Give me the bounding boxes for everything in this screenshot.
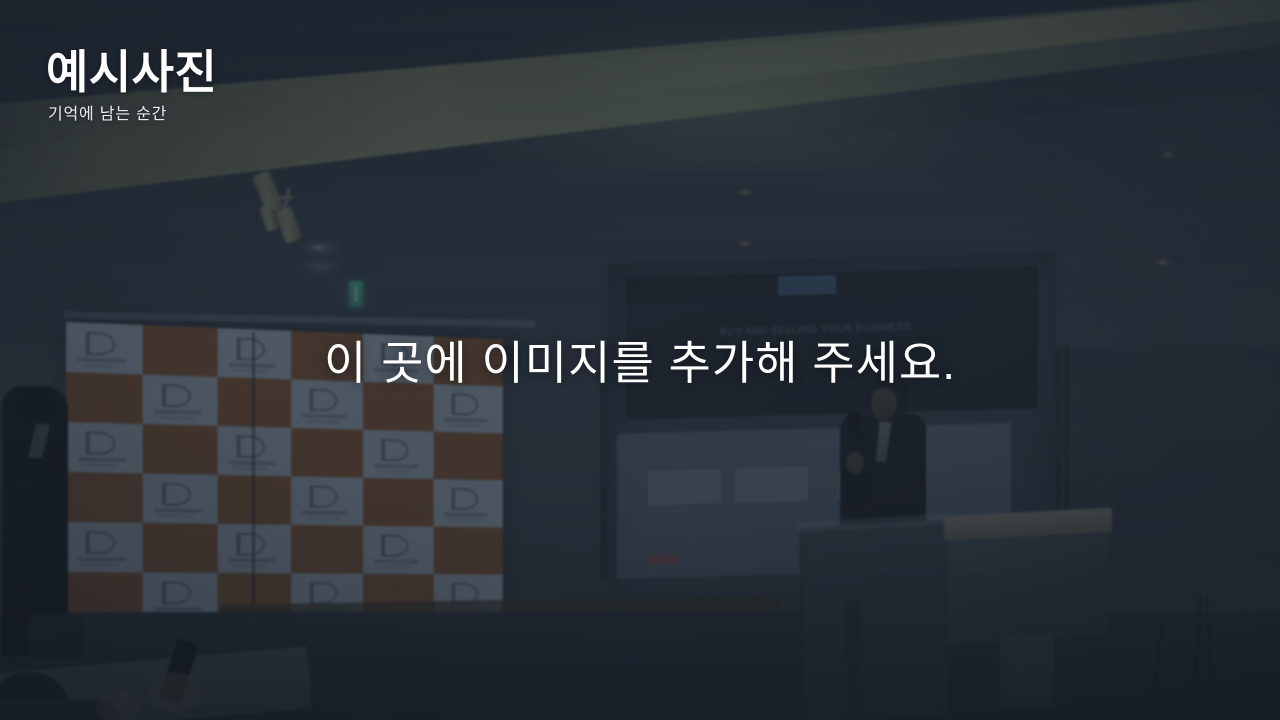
spotlight-bracket (276, 196, 292, 199)
screen-text-line (648, 529, 751, 534)
dcamp-wordmark-sub (232, 564, 267, 567)
banner-cell-orange (66, 372, 143, 424)
screen-card (648, 469, 721, 505)
dcamp-logo-icon (382, 343, 409, 366)
dcamp-logo-icon (452, 393, 478, 416)
dcamp-wordmark (445, 512, 488, 517)
banner-cell-white (434, 479, 503, 527)
dcamp-wordmark (155, 508, 202, 513)
screen-cta-button (648, 554, 678, 564)
banner-cell-white (363, 430, 434, 479)
dcamp-wordmark (155, 607, 202, 611)
dcamp-wordmark (374, 559, 418, 564)
dcamp-logo-icon (310, 582, 337, 604)
banner-cell-white (143, 375, 218, 426)
banner-cell-orange (363, 478, 434, 527)
banner-cell-orange (363, 382, 434, 432)
dcamp-logo-icon (86, 432, 115, 456)
dcamp-logo-icon (452, 488, 478, 510)
downlight (738, 241, 752, 246)
downlight (1156, 260, 1170, 265)
banner-cell-white (66, 422, 143, 473)
dcamp-logo-icon (382, 439, 409, 462)
dcamp-logo-icon (86, 332, 115, 356)
banner-cell-orange (143, 523, 218, 573)
cove-light-bloom (461, 0, 999, 173)
banner-cell-white (434, 384, 503, 433)
page-title: 예시사진 (46, 46, 217, 99)
dcamp-wordmark-sub (158, 416, 194, 419)
banner-pole (252, 332, 255, 624)
dcamp-wordmark-sub (158, 514, 194, 517)
screen-text-line (648, 540, 719, 544)
dcamp-wordmark-sub (306, 516, 341, 519)
banner-checkerboard (66, 322, 503, 622)
audience-hand (148, 672, 202, 712)
banner-cell-orange (291, 428, 363, 478)
banner-cell-orange (434, 432, 503, 481)
dcamp-wordmark-sub (377, 374, 411, 378)
screen-card (735, 466, 808, 502)
dcamp-logo-icon (162, 384, 190, 408)
speaker-hand (846, 452, 864, 474)
dcamp-logo-icon (162, 581, 190, 604)
dcamp-wordmark (445, 417, 488, 422)
banner-cell-white (291, 379, 363, 429)
screen-site-logo (778, 275, 836, 296)
banner-cell-white (143, 473, 218, 523)
downlight (738, 190, 752, 195)
dcamp-wordmark-sub (81, 364, 118, 368)
dcamp-wordmark-sub (81, 463, 118, 466)
dcamp-logo-icon (86, 531, 115, 554)
banner-cell-orange (66, 472, 143, 523)
dcamp-wordmark (78, 357, 126, 363)
banner-cell-orange (291, 525, 363, 574)
dcamp-wordmark (78, 557, 126, 562)
speaker-face (871, 388, 897, 420)
dcamp-wordmark (78, 457, 126, 462)
audience-hand (96, 690, 140, 720)
dcamp-wordmark-sub (448, 518, 481, 521)
backdrop-banner (66, 322, 503, 622)
slide-canvas: BUY AND SELLING YOUR BUSINESS 용인 투자제휴 신청… (0, 0, 1280, 720)
banner-cell-orange (143, 325, 218, 377)
dcamp-logo-icon (237, 435, 265, 458)
dcamp-wordmark-sub (377, 469, 411, 472)
dcamp-wordmark (303, 510, 348, 515)
dcamp-logo-icon (310, 389, 337, 412)
page-subtitle: 기억에 남는 순간 (48, 105, 217, 126)
banner-cell-orange (434, 527, 503, 575)
dcamp-wordmark-sub (448, 423, 481, 426)
lectern (800, 520, 948, 720)
dcamp-logo-icon (162, 483, 190, 506)
dcamp-wordmark-sub (232, 369, 267, 373)
audience-cup (28, 614, 84, 658)
dcamp-wordmark-sub (306, 420, 341, 423)
banner-cell-white (66, 322, 143, 375)
microphone-head (846, 412, 862, 428)
brand-block: 예시사진 기억에 남는 순간 (46, 46, 217, 126)
downlight (1161, 152, 1175, 157)
banner-cell-orange (143, 424, 218, 475)
dcamp-wordmark (155, 409, 202, 415)
exit-sign-icon (349, 281, 363, 307)
banner-cell-orange (434, 337, 503, 387)
screen-text-line (648, 509, 735, 513)
dcamp-wordmark (374, 367, 418, 373)
confidence-monitor-stand (1000, 634, 1054, 706)
screen-text-line (648, 518, 766, 523)
dcamp-wordmark-sub (232, 466, 267, 469)
dcamp-wordmark-sub (81, 563, 118, 566)
lectern-stem (846, 600, 862, 720)
dcamp-logo-icon (310, 485, 337, 508)
screen-hero-section: BUY AND SELLING YOUR BUSINESS (626, 292, 1038, 419)
banner-cell-white (291, 476, 363, 525)
ceiling-puck-glow (300, 258, 342, 274)
banner-cell-white (66, 522, 143, 572)
banner-cell-orange (291, 331, 363, 382)
dcamp-logo-icon (237, 533, 265, 556)
banner-cell-white (363, 526, 434, 574)
dcamp-wordmark (374, 463, 418, 468)
dcamp-logo-icon (382, 535, 409, 557)
dcamp-wordmark-sub (377, 565, 411, 568)
banner-cell-white (363, 334, 434, 384)
dcamp-wordmark (303, 413, 348, 419)
screen-hero-text: BUY AND SELLING YOUR BUSINESS (692, 321, 939, 339)
dcamp-logo-icon (237, 338, 265, 361)
ceiling-puck-glow (300, 240, 342, 256)
